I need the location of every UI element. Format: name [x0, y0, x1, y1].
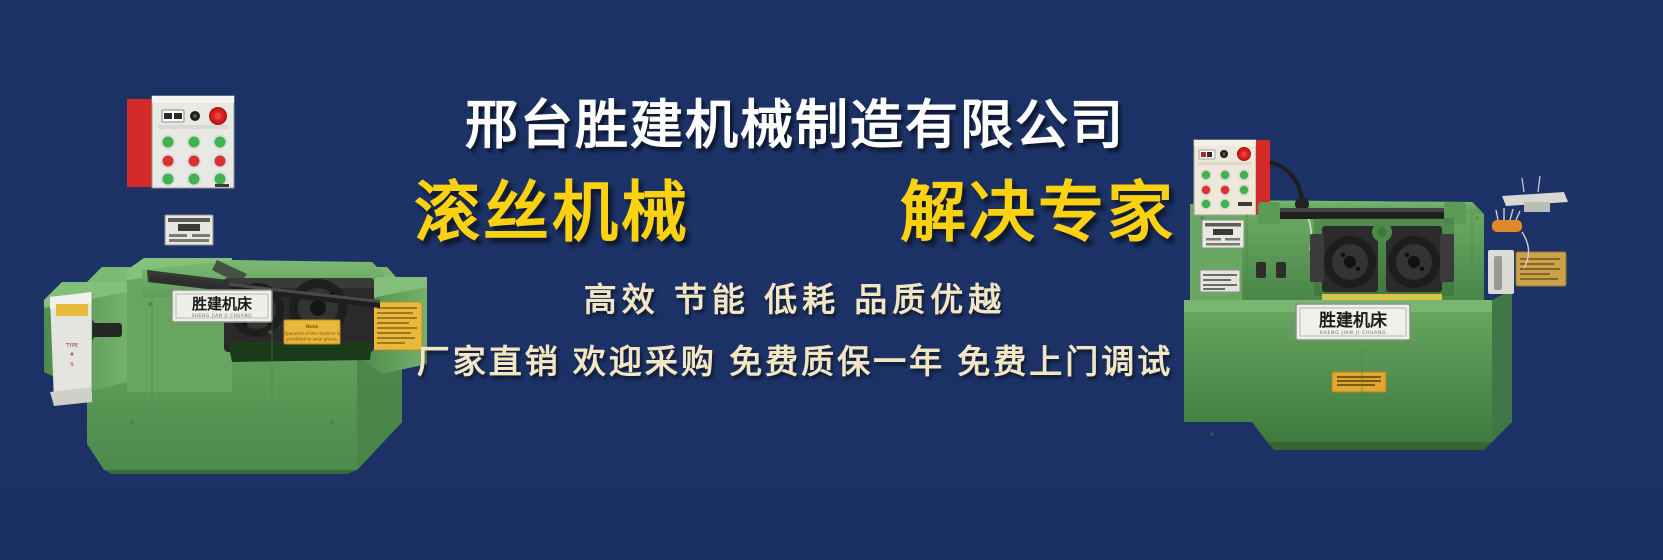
machine-rollers-right — [1310, 218, 1454, 300]
svg-text:SHENG JIAN JI CHUANG: SHENG JIAN JI CHUANG — [1320, 330, 1386, 336]
svg-text:Note: Note — [306, 324, 318, 330]
subtitle-line-1: 高效 节能 低耗 品质优越 — [400, 273, 1190, 321]
warning-label-left: Note Operation of the machine is prohibi… — [284, 320, 340, 344]
machine-cable-right — [1270, 162, 1302, 200]
headline-right: 解决专家 — [900, 177, 1176, 248]
svg-text:TYPE: TYPE — [65, 343, 78, 349]
nameplate-right: 胜建机床 SHENG JIAN JI CHUANG — [1296, 304, 1410, 340]
machine-accessory-right — [1488, 176, 1568, 294]
svg-text:S: S — [70, 362, 73, 368]
svg-text:SHENG JIAN JI CHUANG: SHENG JIAN JI CHUANG — [192, 313, 252, 318]
spec-plate-left — [165, 215, 213, 245]
banner-text-block: 邢台胜建机械制造有限公司 滚丝机械 解决专家 高效 节能 低耗 品质优越 厂家直… — [400, 96, 1190, 383]
svg-text:胜建机床: 胜建机床 — [1319, 310, 1388, 331]
headline-left: 滚丝机械 — [414, 177, 690, 248]
side-cabinet-left: TYPE # S — [50, 292, 92, 406]
promotional-banner: 胜建机床 SHENG JIAN JI CHUANG Note Operation… — [0, 0, 1663, 560]
company-name: 邢台胜建机械制造有限公司 — [400, 96, 1190, 155]
spec-plate-right — [1202, 220, 1244, 248]
info-plate-right — [1200, 270, 1240, 292]
machine-photo-right: 胜建机床 SHENG JIAN JI CHUANG — [1172, 122, 1572, 454]
subtitle-line-2: 厂家直销 欢迎采购 免费质保一年 免费上门调试 — [400, 335, 1190, 383]
svg-text:胜建机床: 胜建机床 — [192, 295, 253, 313]
svg-text:Operation of the machine is: Operation of the machine is — [284, 331, 340, 336]
nameplate-left: 胜建机床 SHENG JIAN JI CHUANG — [172, 290, 272, 322]
headline-row: 滚丝机械 解决专家 — [400, 177, 1190, 248]
bottom-label-right — [1332, 372, 1386, 392]
svg-text:prohibited to wear gloves.: prohibited to wear gloves. — [286, 337, 338, 342]
svg-text:#: # — [70, 352, 74, 358]
control-panel-left[interactable] — [127, 96, 234, 188]
machine-photo-left: 胜建机床 SHENG JIAN JI CHUANG Note Operation… — [32, 92, 434, 474]
